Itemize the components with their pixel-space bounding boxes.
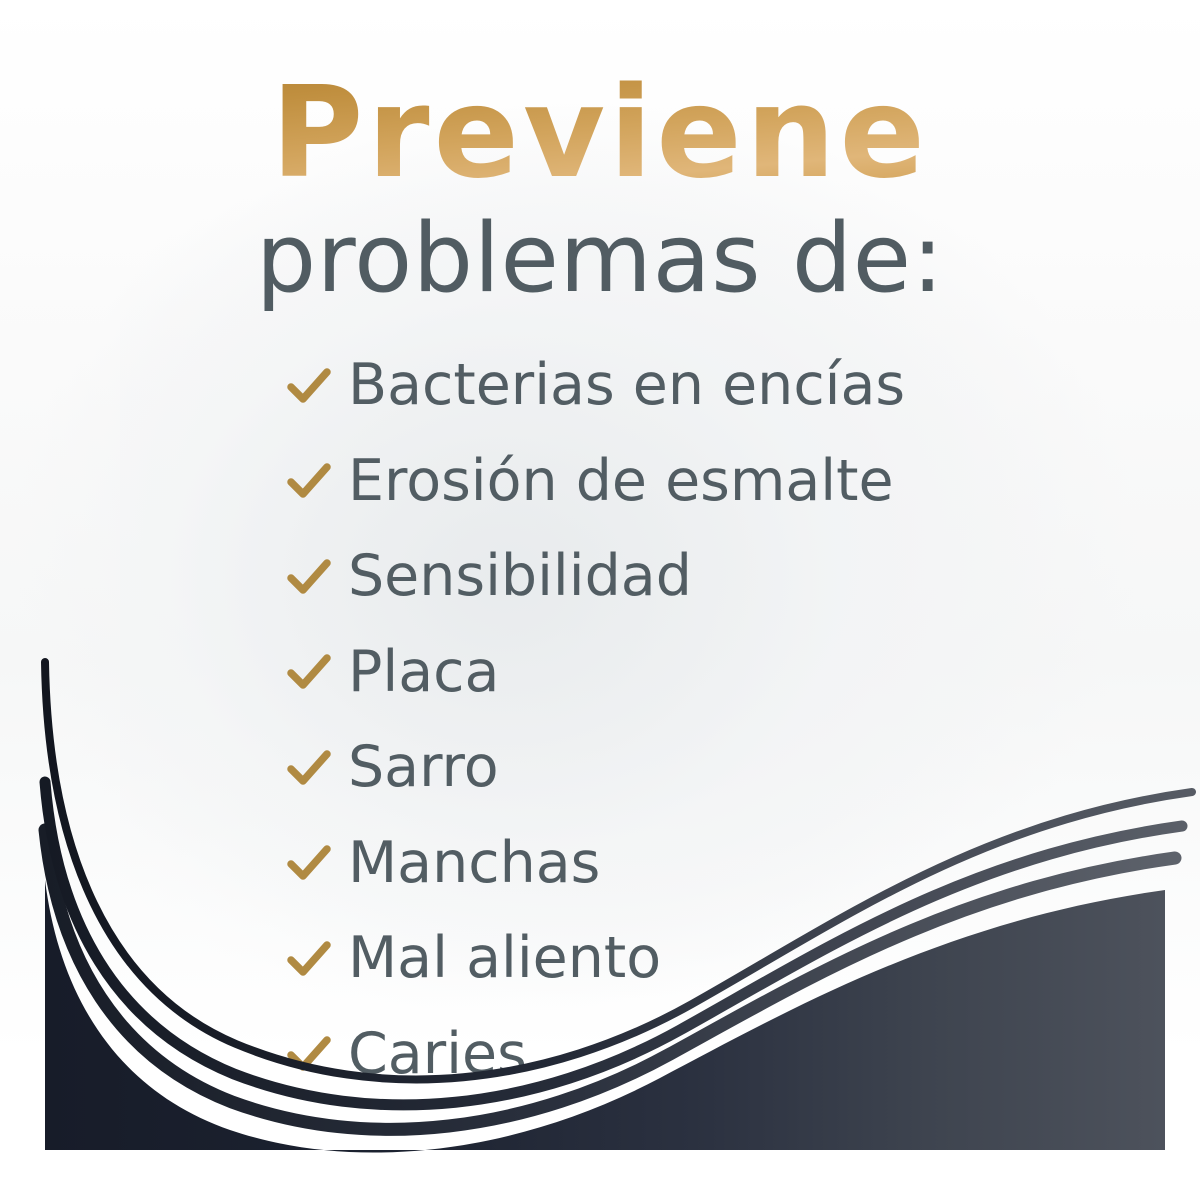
list-item: Mal aliento bbox=[286, 911, 1046, 1007]
check-mark-icon bbox=[286, 458, 332, 504]
list-item-label: Placa bbox=[348, 644, 499, 701]
check-mark-icon bbox=[286, 1031, 332, 1077]
check-mark-icon bbox=[286, 745, 332, 791]
list-item-label: Sarro bbox=[348, 739, 499, 796]
list-item: Sarro bbox=[286, 720, 1046, 816]
list-item: Placa bbox=[286, 625, 1046, 721]
list-item-label: Erosión de esmalte bbox=[348, 453, 894, 510]
list-item: Bacterias en encías bbox=[286, 338, 1046, 434]
headline-block: Previene problemas de: bbox=[0, 70, 1200, 307]
list-item-label: Bacterias en encías bbox=[348, 357, 905, 414]
check-mark-icon bbox=[286, 936, 332, 982]
check-mark-icon bbox=[286, 840, 332, 886]
list-item-label: Caries bbox=[348, 1026, 527, 1083]
check-mark-icon bbox=[286, 554, 332, 600]
list-item: Manchas bbox=[286, 816, 1046, 912]
page-title: Previene bbox=[0, 70, 1200, 196]
list-item-label: Manchas bbox=[348, 835, 600, 892]
check-mark-icon bbox=[286, 363, 332, 409]
list-item-label: Sensibilidad bbox=[348, 548, 692, 605]
list-item: Erosión de esmalte bbox=[286, 434, 1046, 530]
list-item-label: Mal aliento bbox=[348, 930, 661, 987]
list-item: Caries bbox=[286, 1007, 1046, 1103]
poster-canvas: Previene problemas de: Bacterias en encí… bbox=[0, 0, 1200, 1200]
list-item: Sensibilidad bbox=[286, 529, 1046, 625]
check-mark-icon bbox=[286, 649, 332, 695]
benefits-list: Bacterias en encías Erosión de esmalte S… bbox=[286, 338, 1046, 1102]
page-subtitle: problemas de: bbox=[0, 212, 1200, 307]
